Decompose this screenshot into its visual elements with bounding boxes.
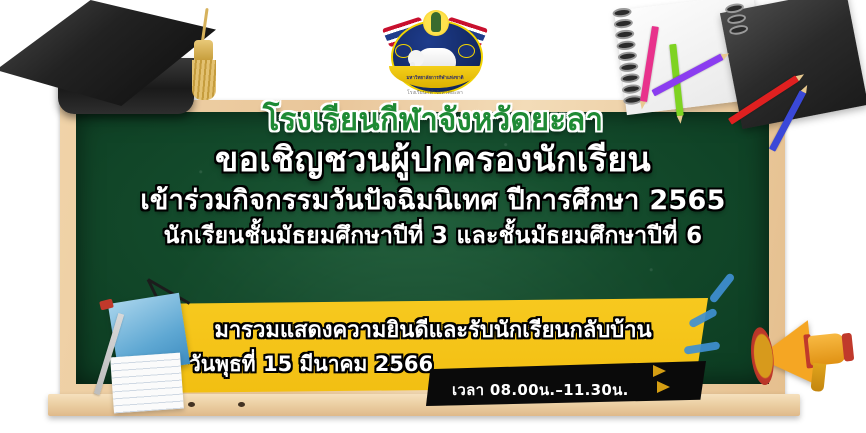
lined-paper-icon (110, 353, 184, 414)
emblem-disc-right (458, 44, 475, 58)
tray-dot (188, 402, 195, 407)
emblem-caption: โรงเรียนกีฬาจังหวัดยะลา (383, 89, 487, 97)
spiral-ring (617, 51, 637, 62)
graduation-cap-icon (0, 0, 274, 141)
cap-tassel-fringe (192, 60, 216, 100)
poster-root: มหาวิทยาลัยการกีฬาแห่งชาติ โรงเรียนกีฬาจ… (0, 0, 866, 433)
arrow-right-icon (657, 381, 670, 393)
spiral-ring (621, 83, 641, 94)
spiral-ring (615, 29, 635, 40)
headline-line-3: เข้าร่วมกิจกรรมวันปัจฉิมนิเทศ ปีการศึกษา… (0, 187, 866, 216)
megaphone-icon (753, 305, 866, 416)
emblem-deity-figure (431, 12, 441, 32)
spiral-ring (612, 7, 632, 18)
event-time-text: เวลา 08.00น.–11.30น. (452, 378, 629, 402)
spiral-ring (620, 73, 640, 84)
spiral-ring (619, 62, 639, 73)
tray-dot (238, 402, 245, 407)
school-emblem: มหาวิทยาลัยการกีฬาแห่งชาติ โรงเรียนกีฬาจ… (383, 4, 487, 96)
megaphone-handle (810, 363, 826, 392)
arrow-right-icon (653, 365, 666, 377)
yellow-banner-line-2: วันพุธที่ 15 มีนาคม 2566 (189, 348, 433, 381)
headline-line-2: ขอเชิญชวนผู้ปกครองนักเรียน (0, 142, 866, 178)
spiral-ring (613, 18, 633, 29)
emblem-scroll-text: มหาวิทยาลัยการกีฬาแห่งชาติ (383, 74, 487, 81)
cap-tassel-knot (194, 40, 213, 62)
megaphone-body (808, 333, 847, 367)
megaphone-cap (841, 333, 854, 362)
headline-line-4: นักเรียนชั้นมัธยมศึกษาปีที่ 3 และชั้นมัธ… (0, 224, 866, 248)
spiral-ring (616, 40, 636, 51)
